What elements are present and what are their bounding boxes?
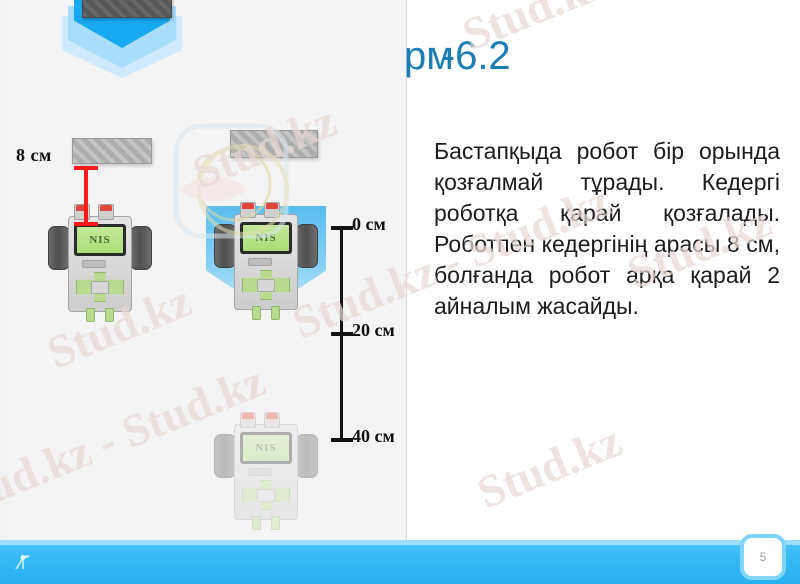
robot-screen-text: NIS [255,442,276,454]
robot-dpad-center [257,489,275,502]
ruler-tick-0 [331,226,353,230]
caliper-cap-bottom [74,222,98,226]
robot-ev3-start: NIS [46,198,154,320]
robot-port-cap [100,205,112,211]
robot-leg-right [271,516,280,530]
footer-sheen [0,540,800,545]
ruler-tick-40 [331,438,353,442]
robot-slot [248,258,272,266]
vertical-ruler [331,226,353,442]
robot-ev3-end-faded: NIS [212,406,320,528]
robot-wheel-right [130,226,152,270]
robot-dpad-center [91,281,109,294]
page-number-badge: 5 [740,534,786,580]
watermark-text: Stud.kz [470,414,629,519]
top-banner-graphic [62,0,182,86]
robot-port-cap [266,413,278,419]
caliper-stem [84,169,88,223]
ruler-tick-20 [331,332,353,336]
robot-port-2 [264,412,280,428]
robot-wheel-left [214,224,236,268]
robot-leg-right [105,308,114,322]
robot-screen: NIS [240,432,292,464]
robot-port-2 [98,204,114,220]
robot-ev3-highlighted: NIS [212,196,320,318]
page-number: 5 [760,550,767,564]
distance-caliper-red [74,166,98,226]
robot-leg-right [271,306,280,320]
robot-leg-left [252,306,261,320]
robot-port-cap [242,413,254,419]
robot-leg-left [86,308,95,322]
slide-title-overlap: -6.2 [442,34,511,78]
robot-port-1 [240,202,256,218]
ruler-label-0: 0 см [352,214,386,235]
robot-slot [248,468,272,476]
robot-screen-text: NIS [255,232,276,244]
distance-label-8cm: 8 см [16,145,52,166]
slide-canvas: 8 см 0 см 20 см 40 см NIS [0,0,800,540]
slide-body-text: Бастапқыда робот бір орында қозғалмай тұ… [434,136,780,322]
banner-hatched-bar [82,0,172,18]
ruler-label-20: 20 см [352,320,395,341]
robot-screen-text: NIS [89,234,110,246]
robot-port-cap [266,203,278,209]
bird-icon[interactable] [12,550,36,574]
robot-wheel-left [48,226,70,270]
robot-leg-left [252,516,261,530]
robot-dpad-center [257,279,275,292]
obstacle-bar-right [230,130,318,158]
slide-title: рм-6.2 [404,34,523,79]
robot-screen-surface: NIS [243,225,289,251]
robot-screen-surface: NIS [77,227,123,253]
robot-slot [82,260,106,268]
footer-bar: 5 [0,540,800,584]
robot-screen-surface: NIS [243,435,289,461]
obstacle-bar-left [72,138,152,164]
robot-wheel-left [214,434,236,478]
robot-screen: NIS [74,224,126,256]
robot-port-cap [242,203,254,209]
ruler-label-40: 40 см [352,426,395,447]
robot-wheel-right [296,434,318,478]
robot-screen: NIS [240,222,292,254]
robot-wheel-right [296,224,318,268]
robot-port-1 [240,412,256,428]
robot-port-2 [264,202,280,218]
